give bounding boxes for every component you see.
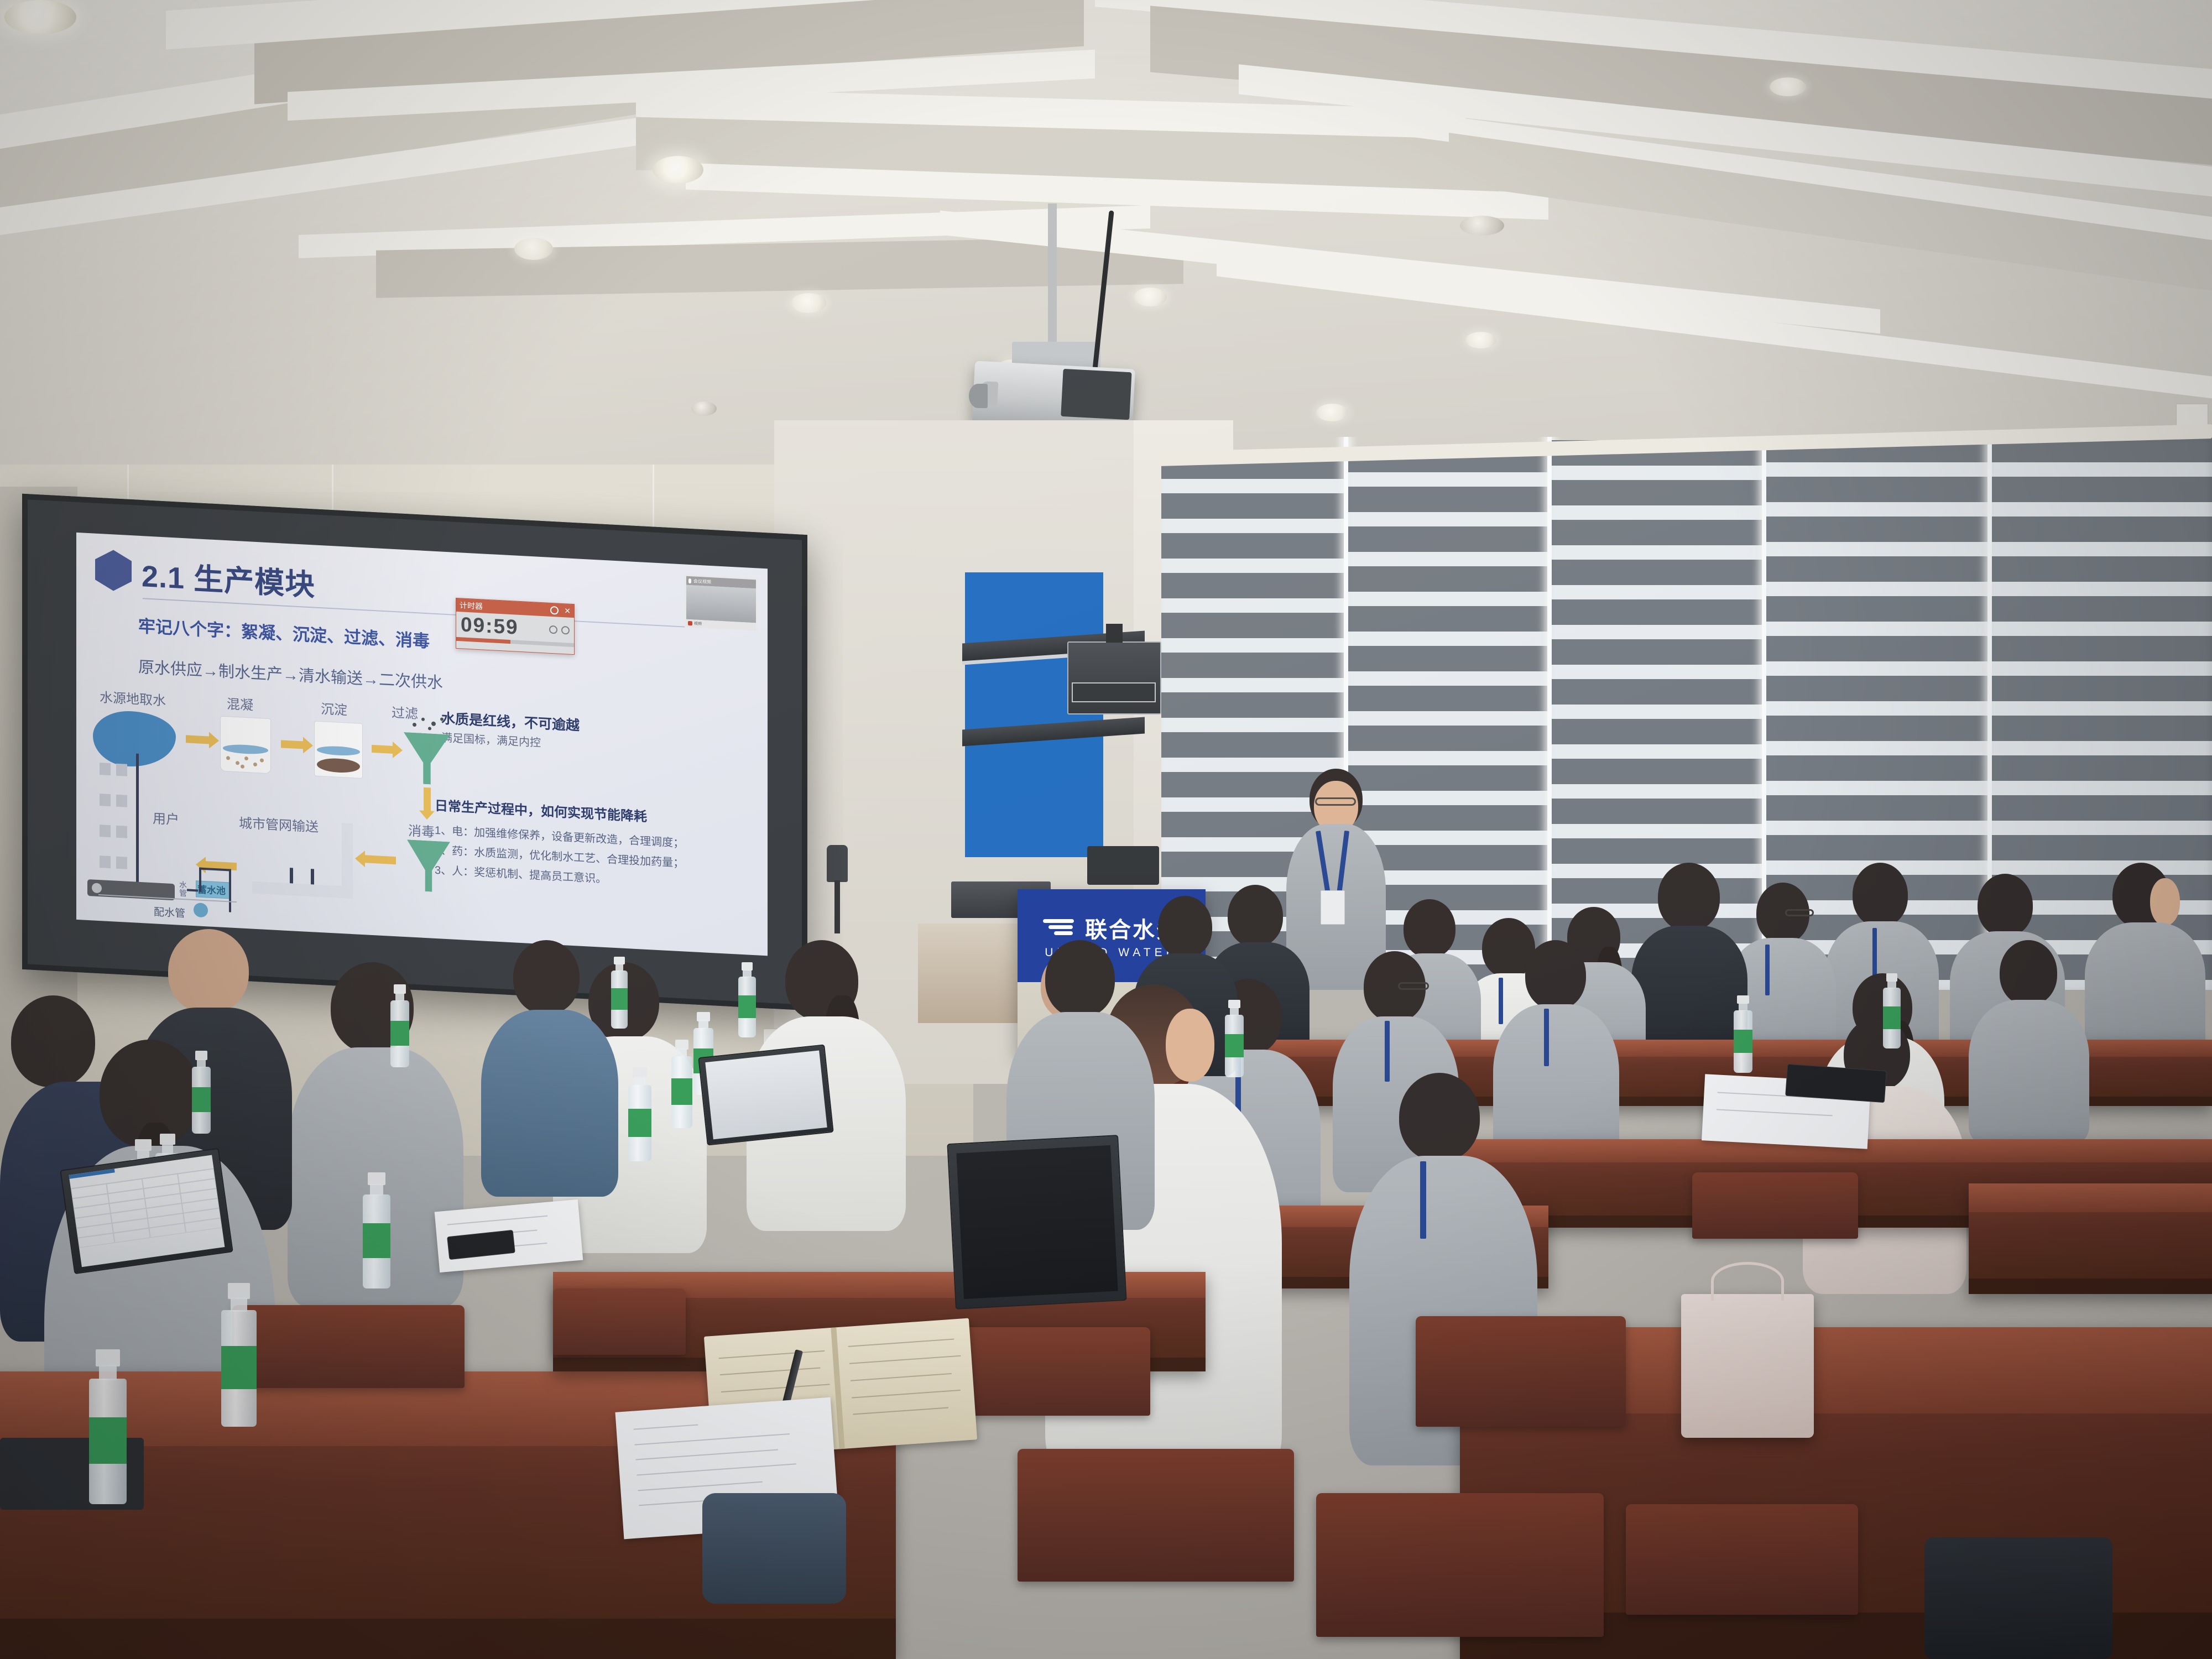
sprinkler-head (1266, 65, 1288, 86)
clock-icon[interactable] (550, 606, 559, 614)
desk-microphone (827, 845, 848, 933)
chair[interactable] (1692, 1172, 1858, 1239)
attendee-head (168, 929, 249, 1013)
handbag[interactable] (1681, 1294, 1814, 1438)
filter-particle (431, 722, 436, 726)
water-bottle[interactable] (1731, 995, 1755, 1073)
distribution-pipe-label: 配水管 (154, 904, 185, 920)
attendee-head (1658, 863, 1720, 931)
attendee-body (1969, 1000, 2089, 1144)
attendee-body (2085, 922, 2205, 1055)
flow-arrow-right (186, 735, 210, 744)
attendee-head (1404, 899, 1455, 958)
distribution-line (229, 869, 231, 912)
diagram-label-sedimentation: 沉淀 (321, 698, 347, 719)
attendee-head (1045, 940, 1115, 1018)
ceiling-downlight (1316, 404, 1348, 421)
flow-arrow-left (364, 855, 396, 864)
filtration-funnel-icon (404, 732, 450, 785)
reservoir-label: 蓄水池 (197, 881, 226, 897)
attendee-head (1853, 863, 1908, 927)
attendee (1631, 863, 1747, 1056)
ceiling-downlight (1134, 288, 1167, 306)
pause-icon[interactable] (549, 625, 557, 634)
projector-lens (969, 384, 988, 408)
timer-time: 09:59 (456, 612, 523, 640)
chair[interactable] (1316, 1493, 1604, 1637)
water-bottle[interactable] (1222, 1000, 1246, 1077)
conference-room-photo: 2.1 生产模块 牢记八个字：絮凝、沉淀、过滤、消毒 原水供应→制水生产→清水输… (0, 0, 2212, 1659)
water-bottle[interactable] (83, 1349, 133, 1504)
chair[interactable] (553, 1288, 686, 1355)
hexagon-bullet-icon (95, 549, 132, 592)
attendee (481, 940, 619, 1194)
diagram-label-coagulation: 混凝 (227, 693, 253, 714)
smoke-detector (691, 401, 717, 416)
sedimentation-tank-icon (314, 721, 363, 779)
close-icon[interactable]: ✕ (564, 606, 571, 616)
coagulation-tank-icon (220, 716, 271, 774)
pip-video-feed (686, 585, 756, 623)
attendee-lanyard (1765, 945, 1770, 995)
countdown-timer-widget[interactable]: 计时器 ✕ 09:59 (456, 598, 575, 655)
chair[interactable] (1018, 1449, 1294, 1582)
ceiling-downlight (4, 0, 76, 34)
diagram-label-network: 城市管网输送 (239, 812, 319, 836)
diagram-label-users: 用户 (153, 807, 179, 828)
slide-key-points: 牢记八个字：絮凝、沉淀、过滤、消毒 (138, 612, 430, 653)
laptop-screen-dark (956, 1145, 1118, 1299)
energy-heading: 日常生产过程中，如何实现节能降耗 (435, 795, 647, 825)
sprinkler-head (1626, 288, 1649, 310)
attendee-lanyard (1420, 1161, 1426, 1239)
shelf-bracket (1106, 624, 1123, 643)
filter-particle (428, 727, 431, 730)
presentation-slide: 2.1 生产模块 牢记八个字：絮凝、沉淀、过滤、消毒 原水供应→制水生产→清水输… (76, 533, 768, 956)
smoke-detector (1460, 216, 1504, 236)
water-bottle[interactable] (608, 957, 630, 1029)
filter-particle (421, 718, 425, 721)
stop-icon[interactable] (561, 625, 570, 634)
laptop-center[interactable] (947, 1135, 1126, 1310)
distribution-line (199, 868, 201, 892)
attendee-body (481, 1010, 618, 1197)
slide-title: 2.1 生产模块 (142, 551, 315, 604)
projector-mount (1048, 204, 1057, 348)
wave-logo-icon (1043, 918, 1077, 938)
sprinkler-head (171, 331, 200, 358)
laptop-screen (705, 1050, 827, 1140)
attendee (1969, 940, 2090, 1139)
flow-arrow-right (281, 740, 304, 749)
filter-particle (413, 723, 416, 727)
timer-label: 计时器 (460, 599, 483, 612)
chair[interactable] (1626, 1504, 1858, 1615)
laptop-left[interactable] (60, 1148, 233, 1275)
distribution-node (194, 902, 208, 917)
blue-wall-panel (965, 735, 1103, 857)
attendee-lanyard (1544, 1009, 1549, 1066)
handbag-strap (1711, 1262, 1784, 1301)
distribution-line (187, 889, 198, 891)
pip-caption: 视频 (694, 620, 702, 627)
presenter-badge (1321, 890, 1345, 925)
rolled-mat[interactable] (702, 1493, 846, 1604)
wall-speaker (1067, 641, 1161, 714)
ceiling-downlight (653, 156, 703, 184)
flow-arrow-right (372, 745, 394, 754)
slide-flow-line: 原水供应→制水生产→清水输送→二次供水 (138, 654, 443, 693)
diagram-label-source: 水源地取水 (100, 686, 166, 709)
pipe-valve (311, 869, 314, 884)
microphone-icon (688, 578, 691, 583)
water-bottle[interactable] (1880, 973, 1903, 1048)
network-pipe (252, 881, 353, 899)
chair[interactable] (1416, 1316, 1626, 1427)
attendee-face (1166, 1009, 1214, 1082)
water-bottle[interactable] (189, 1051, 213, 1134)
eyeglasses-icon (1398, 982, 1429, 990)
participants-icon[interactable] (688, 621, 692, 625)
ceiling-downlight (791, 293, 826, 313)
water-bottle[interactable] (216, 1283, 262, 1427)
attendee-head (1978, 874, 2033, 937)
attendee-head (1158, 896, 1212, 958)
smartphone[interactable] (1785, 1064, 1887, 1103)
attendee-head (513, 940, 580, 1014)
attendee (2079, 863, 2206, 1051)
backpack[interactable] (1924, 1537, 2112, 1659)
ceiling-downlight (1465, 332, 1496, 348)
attendee-head (1399, 1073, 1480, 1161)
diagram-label-disinfection: 消毒 (408, 820, 435, 841)
building-riser (136, 754, 139, 886)
eyeglasses-icon (1785, 909, 1814, 916)
chair[interactable] (232, 1305, 465, 1388)
water-bottle[interactable] (735, 962, 759, 1037)
diagram-label-filtration: 过滤 (392, 702, 418, 723)
flow-arrow-down (424, 787, 431, 812)
water-bottle[interactable] (387, 984, 413, 1067)
pip-title: 会议视频 (693, 578, 711, 585)
attendee-head (1525, 940, 1586, 1010)
laptop-mid[interactable] (698, 1044, 833, 1145)
attendee-head (2000, 940, 2057, 1005)
pipe-valve (290, 868, 293, 883)
filter-particle (440, 717, 444, 721)
attendee-face (2150, 878, 2180, 926)
water-bottle[interactable] (625, 1067, 655, 1161)
front-desk-far-right (1969, 1183, 2212, 1294)
ceiling-downlight (514, 238, 553, 260)
water-bottle[interactable] (358, 1172, 395, 1288)
video-conference-thumbnail[interactable]: 会议视频 视频 (685, 575, 758, 632)
presenter-toolbar-avatar-icon (92, 883, 102, 893)
laptop-on-equipment-table (1087, 846, 1159, 885)
speaker-grille (1072, 682, 1156, 702)
eyeglasses-icon (1315, 797, 1356, 806)
ceiling-downlight (1770, 77, 1806, 96)
